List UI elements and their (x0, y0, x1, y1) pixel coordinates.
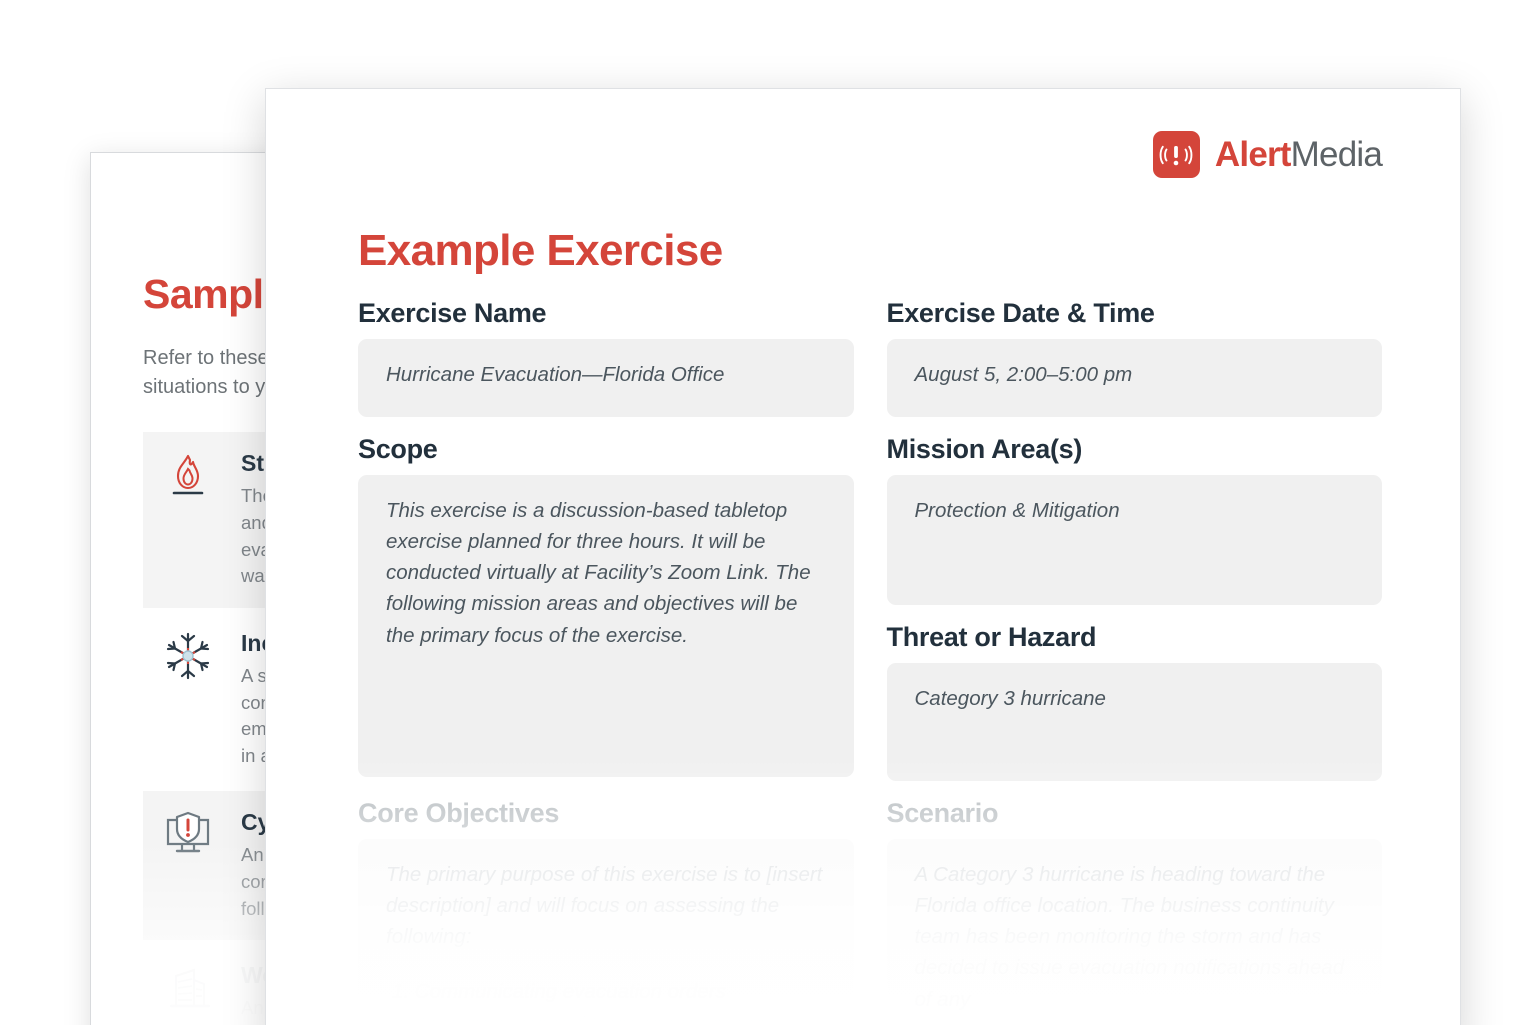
brand-header: AlertMedia (358, 131, 1382, 178)
exercise-date-time-input[interactable]: August 5, 2:00–5:00 pm (887, 339, 1383, 417)
field-core-objectives: Core Objectives The primary purpose of t… (358, 798, 854, 1025)
field-label: Exercise Name (358, 298, 854, 329)
example-exercise-document-page[interactable]: AlertMedia Example Exercise Exercise Nam… (265, 88, 1461, 1025)
right-column-stack: Mission Area(s) Protection & Mitigation … (887, 434, 1383, 798)
scenario-input[interactable]: A Category 3 hurricane is heading toward… (887, 839, 1383, 1025)
field-exercise-name: Exercise Name Hurricane Evacuation—Flori… (358, 298, 854, 417)
objective-item: 1. Communicating evacuation orders (392, 976, 828, 1009)
fire-icon (157, 448, 219, 504)
alertmedia-logo: AlertMedia (1153, 131, 1382, 178)
field-threat-or-hazard: Threat or Hazard Category 3 hurricane (887, 622, 1383, 781)
snowflake-icon (157, 628, 219, 684)
field-value: A Category 3 hurricane is heading toward… (915, 859, 1357, 1015)
document-preview-stage: Sample Refer to these situations to y St… (0, 0, 1536, 1025)
field-label: Threat or Hazard (887, 622, 1383, 653)
monitor-shield-alert-icon (157, 807, 219, 863)
logo-media-text: Media (1291, 135, 1382, 174)
field-value: Category 3 hurricane (915, 683, 1357, 714)
logo-wordmark: AlertMedia (1215, 135, 1382, 175)
scope-input[interactable]: This exercise is a discussion-based tabl… (358, 475, 854, 777)
office-building-icon (157, 960, 219, 1016)
field-exercise-date-time: Exercise Date & Time August 5, 2:00–5:00… (887, 298, 1383, 417)
field-scenario: Scenario A Category 3 hurricane is headi… (887, 798, 1383, 1025)
field-label: Scenario (887, 798, 1383, 829)
field-value: Hurricane Evacuation—Florida Office (386, 359, 828, 390)
field-value: August 5, 2:00–5:00 pm (915, 359, 1357, 390)
core-objectives-input[interactable]: The primary purpose of this exercise is … (358, 839, 854, 1025)
core-objectives-list: 1. Communicating evacuation orders 2. Ac… (386, 976, 828, 1025)
field-scope: Scope This exercise is a discussion-base… (358, 434, 854, 781)
mission-areas-input[interactable]: Protection & Mitigation (887, 475, 1383, 605)
threat-or-hazard-input[interactable]: Category 3 hurricane (887, 663, 1383, 781)
field-label: Mission Area(s) (887, 434, 1383, 465)
page-title: Example Exercise (358, 226, 1382, 276)
field-value: Protection & Mitigation (915, 495, 1357, 526)
field-value: This exercise is a discussion-based tabl… (386, 495, 828, 651)
field-label: Core Objectives (358, 798, 854, 829)
alert-exclamation-icon (1153, 131, 1200, 178)
field-label: Scope (358, 434, 854, 465)
field-mission-areas: Mission Area(s) Protection & Mitigation (887, 434, 1383, 605)
document-content: AlertMedia Example Exercise Exercise Nam… (266, 89, 1460, 1025)
fields-grid-row-3: Core Objectives The primary purpose of t… (358, 798, 1382, 1025)
logo-alert-text: Alert (1215, 135, 1291, 174)
fields-grid-row-1: Exercise Name Hurricane Evacuation—Flori… (358, 298, 1382, 434)
fields-grid-row-2: Scope This exercise is a discussion-base… (358, 434, 1382, 798)
objective-item: 2. Accounting for and locating employees (392, 1009, 828, 1025)
exercise-name-input[interactable]: Hurricane Evacuation—Florida Office (358, 339, 854, 417)
field-label: Exercise Date & Time (887, 298, 1383, 329)
field-value: The primary purpose of this exercise is … (386, 859, 828, 952)
